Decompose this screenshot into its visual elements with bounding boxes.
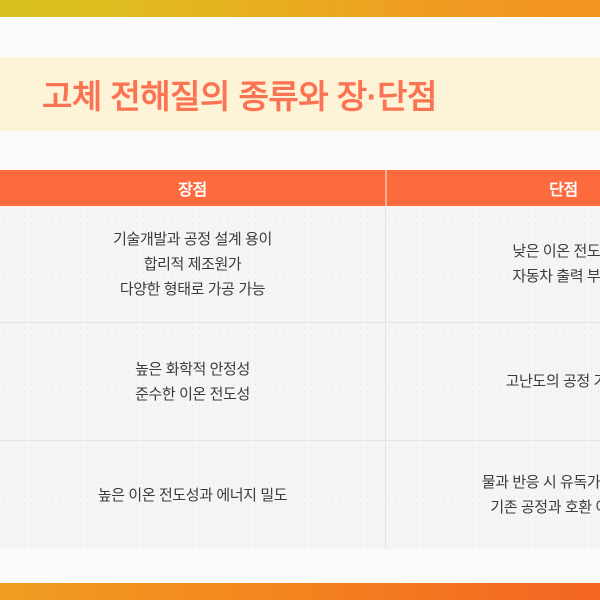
cell-text-line: 기존 공정과 호환 어려움 bbox=[490, 495, 600, 520]
table-body: 기술개발과 공정 설계 용이 합리적 제조원가 다양한 형태로 가공 가능 낮은… bbox=[0, 206, 600, 549]
cell-text-line: 기술개발과 공정 설계 용이 bbox=[113, 227, 272, 252]
cell-text-line: 준수한 이온 전도성 bbox=[135, 382, 250, 407]
cell-text-line: 다양한 형태로 가공 가능 bbox=[120, 277, 265, 302]
cell-text-line: 물과 반응 시 유독가스 발생 bbox=[482, 470, 600, 495]
cell-cons: 고난도의 공정 기술 bbox=[385, 323, 600, 440]
top-gradient-band bbox=[0, 0, 600, 17]
cell-text-line: 자동차 출력 부족 bbox=[512, 264, 600, 289]
table-row: 높은 화학적 안정성 준수한 이온 전도성 고난도의 공정 기술 bbox=[0, 323, 600, 441]
table-row: 높은 이온 전도성과 에너지 밀도 물과 반응 시 유독가스 발생 기존 공정과… bbox=[0, 441, 600, 549]
cell-text-line: 합리적 제조원가 bbox=[144, 252, 242, 277]
bottom-gradient-band bbox=[0, 583, 600, 600]
slide-canvas: 고체 전해질의 종류와 장·단점 장점 단점 기술개발과 공정 설계 용이 합리… bbox=[0, 0, 600, 600]
table-row: 기술개발과 공정 설계 용이 합리적 제조원가 다양한 형태로 가공 가능 낮은… bbox=[0, 206, 600, 323]
cell-cons: 낮은 이온 전도도 자동차 출력 부족 bbox=[385, 206, 600, 322]
cell-text-line: 높은 화학적 안정성 bbox=[135, 357, 250, 382]
cell-text-line: 낮은 이온 전도도 bbox=[512, 239, 600, 264]
comparison-table: 장점 단점 기술개발과 공정 설계 용이 합리적 제조원가 다양한 형태로 가공… bbox=[0, 170, 600, 549]
cell-text-line: 고난도의 공정 기술 bbox=[506, 369, 600, 394]
column-header-cons: 단점 bbox=[385, 170, 600, 206]
cell-pros: 높은 이온 전도성과 에너지 밀도 bbox=[0, 441, 385, 549]
cell-cons: 물과 반응 시 유독가스 발생 기존 공정과 호환 어려움 bbox=[385, 441, 600, 549]
cell-pros: 기술개발과 공정 설계 용이 합리적 제조원가 다양한 형태로 가공 가능 bbox=[0, 206, 385, 322]
page-title: 고체 전해질의 종류와 장·단점 bbox=[0, 57, 600, 131]
cell-pros: 높은 화학적 안정성 준수한 이온 전도성 bbox=[0, 323, 385, 440]
cell-text-line: 높은 이온 전도성과 에너지 밀도 bbox=[98, 483, 287, 508]
table-header-row: 장점 단점 bbox=[0, 170, 600, 206]
column-header-pros: 장점 bbox=[0, 170, 385, 206]
